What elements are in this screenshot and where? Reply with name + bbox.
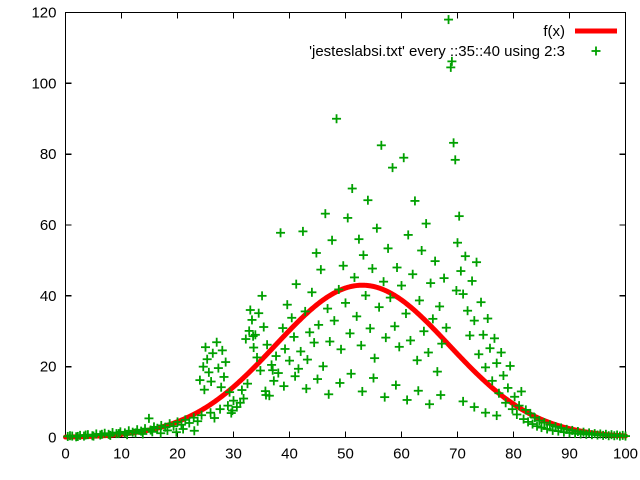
- x-tick-label: 30: [225, 446, 242, 463]
- x-tick-label: 80: [505, 446, 522, 463]
- canvas-background: [0, 0, 640, 480]
- y-tick-label: 0: [48, 430, 56, 447]
- x-tick-label: 10: [113, 446, 130, 463]
- y-tick-label: 40: [40, 288, 57, 305]
- x-tick-label: 0: [61, 446, 69, 463]
- legend-entry-label: f(x): [543, 23, 565, 40]
- y-tick-label: 60: [40, 217, 57, 234]
- y-tick-label: 20: [40, 359, 57, 376]
- y-tick-label: 80: [40, 146, 57, 163]
- x-tick-label: 60: [393, 446, 410, 463]
- x-tick-label: 50: [337, 446, 354, 463]
- y-tick-label: 100: [31, 75, 56, 92]
- gnuplot-window: 020406080100120 0102030405060708090100 f…: [0, 0, 640, 480]
- x-tick-label: 70: [449, 446, 466, 463]
- y-tick-label: 120: [31, 5, 56, 22]
- x-tick-label: 40: [281, 446, 298, 463]
- x-tick-label: 20: [169, 446, 186, 463]
- plot-canvas: 020406080100120 0102030405060708090100 f…: [0, 0, 640, 480]
- x-tick-label: 100: [613, 446, 638, 463]
- legend-entry-label: 'jesteslabsi.txt' every ::35::40 using 2…: [309, 43, 565, 60]
- x-tick-label: 90: [561, 446, 578, 463]
